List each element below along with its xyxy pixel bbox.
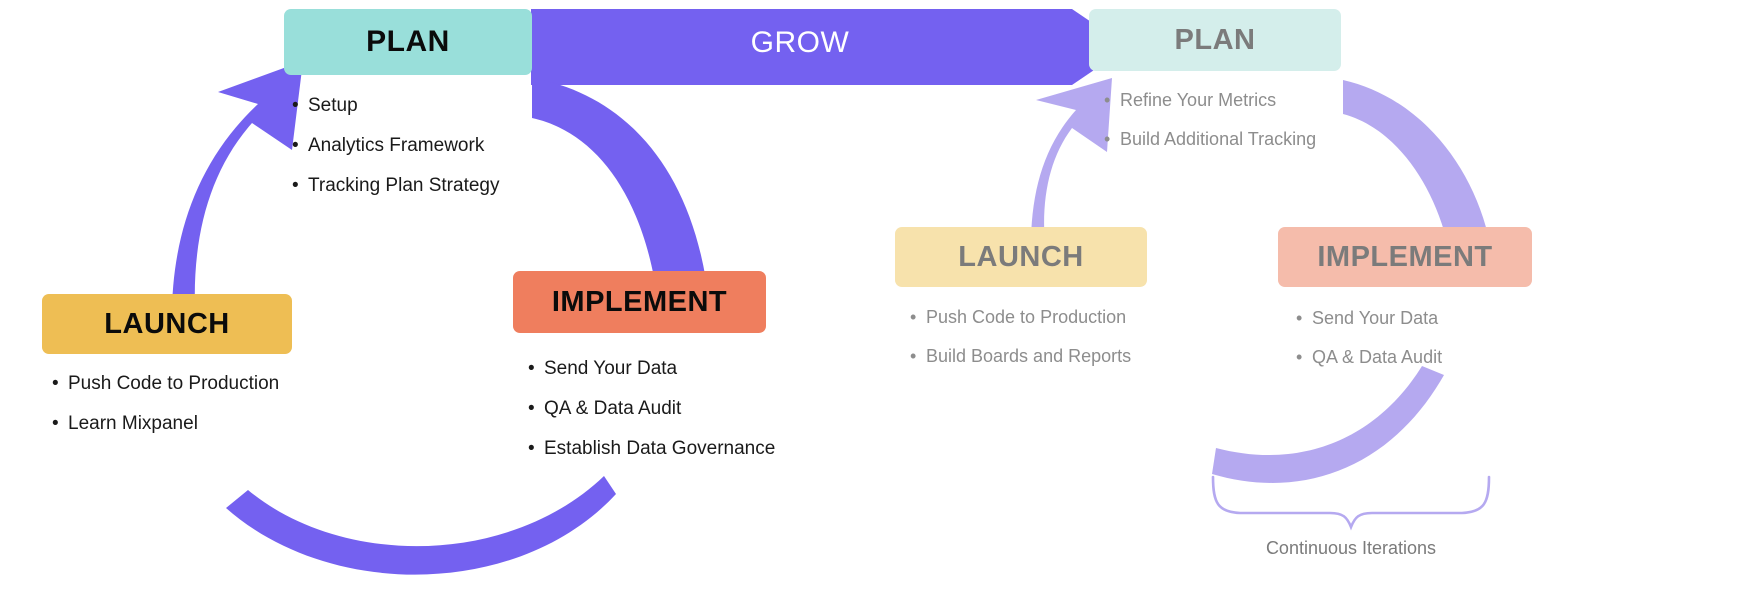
list-item-label: Push Code to Production <box>926 307 1126 328</box>
implement-box-secondary[interactable]: IMPLEMENT <box>1278 227 1532 287</box>
list-item: • Learn Mixpanel <box>52 413 382 435</box>
list-item-label: Learn Mixpanel <box>68 413 198 435</box>
list-item-label: Build Boards and Reports <box>926 346 1131 367</box>
list-item-label: QA & Data Audit <box>544 398 681 420</box>
list-item: • Analytics Framework <box>292 135 622 157</box>
list-item-label: Refine Your Metrics <box>1120 90 1276 111</box>
implement-box-title: IMPLEMENT <box>552 286 727 319</box>
list-item: • Build Boards and Reports <box>910 346 1240 367</box>
bullet-icon: • <box>528 358 544 380</box>
list-item: • Push Code to Production <box>910 307 1240 328</box>
list-item: • Push Code to Production <box>52 373 382 395</box>
list-item-label: Send Your Data <box>544 358 677 380</box>
bullet-icon: • <box>1104 129 1120 150</box>
bullet-icon: • <box>910 346 926 367</box>
list-item: • Build Additional Tracking <box>1104 129 1434 150</box>
launch-box-title-faded: LAUNCH <box>958 241 1083 274</box>
list-item-label: Analytics Framework <box>308 135 484 157</box>
plan-box-secondary[interactable]: PLAN <box>1089 9 1341 71</box>
bullet-icon: • <box>528 398 544 420</box>
launch-box-primary[interactable]: LAUNCH <box>42 294 292 354</box>
list-item: • Setup <box>292 95 622 117</box>
bullet-icon: • <box>1296 347 1312 368</box>
arrow-implement-to-launch <box>226 476 616 575</box>
bullet-icon: • <box>292 135 308 157</box>
list-item-label: Tracking Plan Strategy <box>308 175 500 197</box>
launch-bullet-list-secondary: • Push Code to Production • Build Boards… <box>910 307 1240 384</box>
bullet-icon: • <box>52 413 68 435</box>
continuous-iterations-brace <box>1213 477 1489 527</box>
plan-bullet-list-secondary: • Refine Your Metrics • Build Additional… <box>1104 90 1434 167</box>
list-item: • Refine Your Metrics <box>1104 90 1434 111</box>
list-item: • QA & Data Audit <box>1296 347 1626 368</box>
launch-box-secondary[interactable]: LAUNCH <box>895 227 1147 287</box>
implement-bullet-list-secondary: • Send Your Data • QA & Data Audit <box>1296 308 1626 385</box>
plan-bullet-list-primary: • Setup • Analytics Framework • Tracking… <box>292 95 622 215</box>
list-item: • Establish Data Governance <box>528 438 888 460</box>
plan-box-title-faded: PLAN <box>1175 24 1256 57</box>
implement-box-title-faded: IMPLEMENT <box>1317 241 1492 274</box>
list-item-label: QA & Data Audit <box>1312 347 1442 368</box>
launch-box-title: LAUNCH <box>104 308 229 341</box>
continuous-iterations-label: Continuous Iterations <box>1213 538 1489 559</box>
list-item: • Send Your Data <box>528 358 888 380</box>
list-item-label: Push Code to Production <box>68 373 279 395</box>
list-item-label: Setup <box>308 95 358 117</box>
arrow-launch-to-plan <box>172 61 303 327</box>
plan-box-title: PLAN <box>366 25 450 59</box>
list-item: • QA & Data Audit <box>528 398 888 420</box>
implement-bullet-list-primary: • Send Your Data • QA & Data Audit • Est… <box>528 358 888 478</box>
implement-box-primary[interactable]: IMPLEMENT <box>513 271 766 333</box>
bullet-icon: • <box>1296 308 1312 329</box>
list-item: • Send Your Data <box>1296 308 1626 329</box>
launch-bullet-list-primary: • Push Code to Production • Learn Mixpan… <box>52 373 382 453</box>
bullet-icon: • <box>910 307 926 328</box>
list-item-label: Build Additional Tracking <box>1120 129 1316 150</box>
list-item: • Tracking Plan Strategy <box>292 175 622 197</box>
bullet-icon: • <box>292 95 308 117</box>
plan-box-primary[interactable]: PLAN <box>284 9 532 75</box>
list-item-label: Establish Data Governance <box>544 438 775 460</box>
bullet-icon: • <box>1104 90 1120 111</box>
bullet-icon: • <box>292 175 308 197</box>
bullet-icon: • <box>528 438 544 460</box>
bullet-icon: • <box>52 373 68 395</box>
grow-arrow-label: GROW <box>530 26 1070 60</box>
list-item-label: Send Your Data <box>1312 308 1438 329</box>
lifecycle-diagram: GROW PLAN • Setup • Analytics Framework … <box>0 0 1740 589</box>
